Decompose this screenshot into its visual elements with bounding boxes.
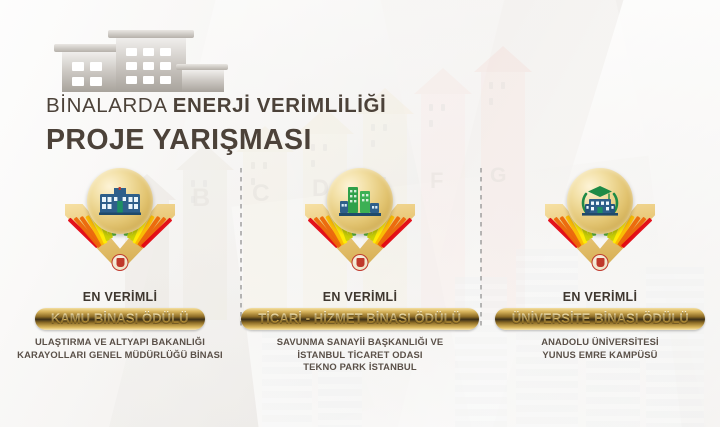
award-card-ticari[interactable]: EN VERİMLİ TİCARİ - HİZMET BİNASI ÖDÜLÜ … <box>240 168 480 398</box>
winner-line: YUNUS EMRE KAMPÜSÜ <box>541 349 659 362</box>
commercial-towers-icon <box>327 168 393 234</box>
award-title-text: ÜNİVERSİTE BİNASI ÖDÜLÜ <box>511 311 688 326</box>
title-line2: PROJE YARIŞMASI <box>46 126 386 155</box>
poster-canvas: ABCDEFG BİNALARDA ENERJİ VERİMLİLİĞİ PRO… <box>0 0 720 427</box>
award-title-text: KAMU BİNASI ÖDÜLÜ <box>51 311 189 326</box>
ministry-seal-icon <box>112 254 129 271</box>
page-title: BİNALARDA ENERJİ VERİMLİLİĞİ PROJE YARIŞ… <box>46 96 386 154</box>
winner-line: ULAŞTIRMA VE ALTYAPI BAKANLIĞI <box>17 336 223 349</box>
public-building-icon <box>87 168 153 234</box>
award-title-badge: TİCARİ - HİZMET BİNASI ÖDÜLÜ <box>241 308 478 330</box>
winner-line: KARAYOLLARI GENEL MÜDÜRLÜĞÜ BİNASI <box>17 349 223 362</box>
winner-line: ANADOLU ÜNİVERSİTESİ <box>541 336 659 349</box>
award-title-badge: ÜNİVERSİTE BİNASI ÖDÜLÜ <box>495 308 706 330</box>
award-eyebrow: EN VERİMLİ <box>563 290 638 304</box>
winner-line: SAVUNMA SANAYİİ BAŞKANLIĞI VE <box>277 336 444 349</box>
awards-row: EN VERİMLİ KAMU BİNASI ÖDÜLÜ ULAŞTIRMA V… <box>0 168 720 398</box>
award-winner: ANADOLU ÜNİVERSİTESİ YUNUS EMRE KAMPÜSÜ <box>541 336 659 361</box>
award-winner: SAVUNMA SANAYİİ BAŞKANLIĞI VE İSTANBUL T… <box>277 336 444 374</box>
award-title-text: TİCARİ - HİZMET BİNASI ÖDÜLÜ <box>259 311 462 326</box>
award-eyebrow: EN VERİMLİ <box>323 290 398 304</box>
award-card-kamu[interactable]: EN VERİMLİ KAMU BİNASI ÖDÜLÜ ULAŞTIRMA V… <box>0 168 240 398</box>
award-winner: ULAŞTIRMA VE ALTYAPI BAKANLIĞI KARAYOLLA… <box>17 336 223 361</box>
title-line1-light: BİNALARDA <box>46 94 166 117</box>
buildings-logo-icon <box>46 24 236 90</box>
winner-line: İSTANBUL TİCARET ODASI <box>277 349 444 362</box>
award-medal <box>57 168 183 280</box>
winner-line: TEKNO PARK İSTANBUL <box>277 361 444 374</box>
university-icon <box>567 168 633 234</box>
award-title-badge: KAMU BİNASI ÖDÜLÜ <box>35 308 204 330</box>
award-eyebrow: EN VERİMLİ <box>83 290 158 304</box>
title-line1-bold: ENERJİ VERİMLİLİĞİ <box>173 94 387 117</box>
award-medal <box>297 168 423 280</box>
award-medal <box>537 168 663 280</box>
ministry-seal-icon <box>592 254 609 271</box>
ministry-seal-icon <box>352 254 369 271</box>
award-card-universite[interactable]: EN VERİMLİ ÜNİVERSİTE BİNASI ÖDÜLÜ ANADO… <box>480 168 720 398</box>
